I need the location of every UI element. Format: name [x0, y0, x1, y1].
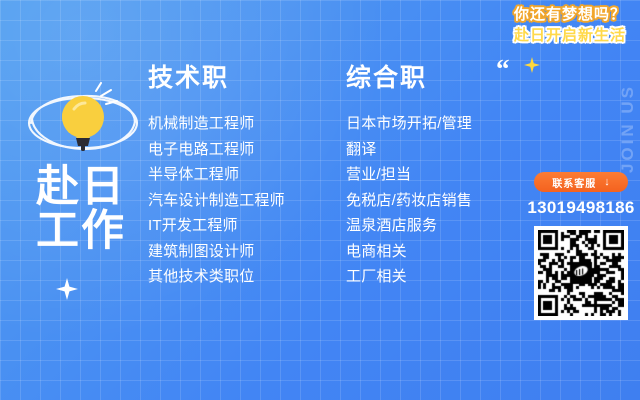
qr-code[interactable] — [534, 226, 628, 320]
job-column-general: 综合职 日本市场开拓/管理 翻译 营业/担当 免税店/药妆店销售 温泉酒店服务 … — [346, 58, 472, 295]
list-item: 电子电路工程师 — [148, 142, 285, 157]
qr-code-image — [538, 230, 624, 316]
list-item: 工厂相关 — [346, 269, 472, 284]
quote-mark-icon: “ — [496, 56, 509, 83]
list-item: 半导体工程师 — [148, 167, 285, 182]
contact-support-button[interactable]: 联系客服 ↓ — [534, 172, 628, 192]
list-item: IT开发工程师 — [148, 218, 285, 233]
contact-support-label: 联系客服 — [552, 175, 596, 190]
lightbulb-icon — [22, 82, 144, 160]
job-list-general: 日本市场开拓/管理 翻译 营业/担当 免税店/药妆店销售 温泉酒店服务 电商相关… — [346, 116, 472, 284]
list-item: 建筑制图设计师 — [148, 244, 285, 259]
sparkle-star-white-icon — [56, 278, 78, 300]
list-item: 机械制造工程师 — [148, 116, 285, 131]
list-item: 电商相关 — [346, 244, 472, 259]
job-list-technical: 机械制造工程师 电子电路工程师 半导体工程师 汽车设计制造工程师 IT开发工程师… — [148, 116, 285, 284]
sparkle-star-yellow-icon — [524, 57, 540, 73]
column-title-general: 综合职 — [346, 58, 472, 94]
logo-block: 赴日 工作 — [18, 82, 148, 254]
join-us-watermark: JOIN US — [618, 84, 638, 173]
list-item: 营业/担当 — [346, 167, 472, 182]
list-item: 翻译 — [346, 142, 472, 157]
headline-line-1: 你还有梦想吗？ — [514, 6, 626, 24]
phone-number: 13019498186 — [526, 198, 636, 218]
list-item: 其他技术类职位 — [148, 269, 285, 284]
logo-text: 赴日 工作 — [22, 166, 140, 254]
poster-canvas: 你还有梦想吗？ 赴日开启新生活 “ — [0, 0, 640, 400]
column-title-technical: 技术职 — [148, 58, 285, 94]
list-item: 温泉酒店服务 — [346, 218, 472, 233]
list-item: 日本市场开拓/管理 — [346, 116, 472, 131]
logo-text-line-1: 赴日 — [22, 166, 140, 210]
list-item: 免税店/药妆店销售 — [346, 193, 472, 208]
arrow-down-icon: ↓ — [604, 177, 610, 188]
logo-text-line-2: 工作 — [22, 210, 140, 254]
headline-block: 你还有梦想吗？ 赴日开启新生活 — [514, 6, 626, 44]
job-column-technical: 技术职 机械制造工程师 电子电路工程师 半导体工程师 汽车设计制造工程师 IT开… — [148, 58, 285, 295]
list-item: 汽车设计制造工程师 — [148, 193, 285, 208]
headline-line-2: 赴日开启新生活 — [514, 27, 626, 45]
